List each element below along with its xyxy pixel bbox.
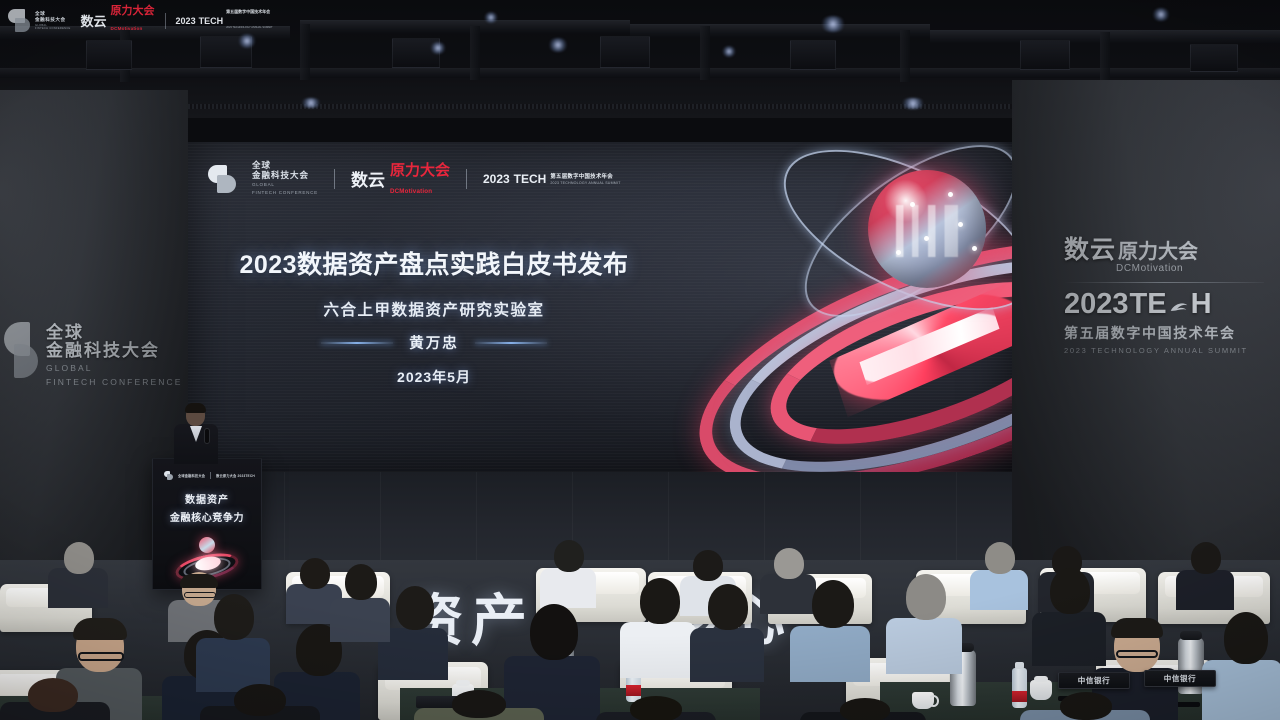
audience-member <box>196 594 270 686</box>
screen-logo-center-cn: 数云 <box>351 166 385 191</box>
audience-member <box>1020 692 1150 720</box>
overlay-right-tech: TECH <box>199 16 224 26</box>
right-wall-tech-right: H <box>1191 288 1212 321</box>
globe-sphere-icon <box>868 170 986 288</box>
overlay-center-cn: 数云 <box>81 11 107 30</box>
screen-logo-right: 2023 TECH 第五届数字中国技术年会 2023 TECHNOLOGY AN… <box>483 172 621 186</box>
overlay-center-en-red: DCMotivation <box>111 26 143 31</box>
microphone-icon <box>204 428 210 444</box>
right-wall-cn-sub: 第五届数字中国技术年会 <box>1064 323 1264 343</box>
screen-logo-right-cn: 第五届数字中国技术年会 <box>550 172 620 180</box>
decorative-rule-right <box>475 342 547 344</box>
screen-logo-center: 数云 原力大会 DCMotivation <box>351 159 450 198</box>
stage-spotlight <box>1152 8 1170 21</box>
left-wall-cn-line2: 金融科技大会 <box>46 342 183 360</box>
audience-member <box>970 542 1028 602</box>
right-wall-brand-cn2: 原力大会 <box>1118 235 1198 264</box>
audience-member <box>1202 612 1280 716</box>
right-wall-dcmotivation-logo: 数云 原力大会 DCMotivation 2023 TE H 第五届数字中国技术… <box>1064 230 1264 355</box>
screen-logo-left-cn2: 金融科技大会 <box>252 171 318 181</box>
slide-title: 2023数据资产盘点实践白皮书发布 <box>224 245 644 281</box>
right-wall-tech-lockup: 2023 TE H <box>1064 288 1264 321</box>
overlay-right-en: 2023 TECHNOLOGY ANNUAL SUMMIT <box>226 26 273 29</box>
screen-logo-bar: 全球 金融科技大会 GLOBAL FINTECH CONFERENCE 数云 原… <box>208 159 621 198</box>
stage-spotlight <box>238 34 256 48</box>
swirl-icon <box>1168 294 1190 316</box>
screen-logo-left-en2: FINTECH CONFERENCE <box>252 190 318 196</box>
right-wall-year: 2023 <box>1064 288 1129 321</box>
right-wall-brand-en: DCMotivation <box>1116 263 1264 274</box>
divider <box>1064 282 1264 283</box>
audience-member <box>200 684 320 720</box>
podium-logo-cn2: 数云原力大会 2023TECH <box>216 473 255 478</box>
audience-member <box>690 584 764 676</box>
audience-member <box>800 698 926 720</box>
right-wall-en-sub: 2023 TECHNOLOGY ANNUAL SUMMIT <box>1064 346 1264 355</box>
audience-member <box>1176 542 1234 602</box>
podium-logo-bar: 全球金融科技大会 数云原力大会 2023TECH <box>164 471 255 480</box>
left-wall-en-line1: GLOBAL <box>46 363 183 374</box>
slide-artwork-spiral <box>658 162 1012 462</box>
stage-spotlight <box>820 16 846 32</box>
audience-member <box>596 696 716 720</box>
table-nameplate[interactable]: 中信银行 <box>1144 670 1216 687</box>
stage-spotlight <box>722 46 736 57</box>
overlay-right-cn: 第五届数字中国技术年会 <box>226 9 273 15</box>
screen-logo-right-year: 2023 <box>483 172 510 186</box>
left-wall-fintech-logo: 全球 金融科技大会 GLOBAL FINTECH CONFERENCE <box>4 322 183 388</box>
screen-logo-right-en: 2023 TECHNOLOGY ANNUAL SUMMIT <box>550 181 620 185</box>
conference-stage-scene: 全球 金融科技大会 GLOBAL FINTECH CONFERENCE 数云 原… <box>0 0 1280 720</box>
overlay-center-cn-red: 原力大会 <box>111 6 155 17</box>
stage-spotlight <box>548 38 568 52</box>
stage-spotlight <box>484 12 498 23</box>
keynote-speaker <box>174 404 218 462</box>
podium-logo-cn: 全球金融科技大会 <box>178 473 205 478</box>
led-presentation-screen[interactable]: 全球 金融科技大会 GLOBAL FINTECH CONFERENCE 数云 原… <box>188 142 1012 472</box>
audience-member <box>330 564 390 638</box>
audience-member <box>540 540 596 600</box>
fintech-conference-mark-icon <box>208 165 236 193</box>
fintech-conference-mark-icon <box>8 9 30 33</box>
stage-spotlight <box>430 42 446 54</box>
slide-organization: 六合上甲数据资产研究实验室 <box>224 298 644 320</box>
slide-title-block: 2023数据资产盘点实践白皮书发布 六合上甲数据资产研究实验室 黄万忠 2023… <box>224 245 644 387</box>
right-wall-brand-cn: 数云 <box>1064 230 1116 266</box>
audience-member <box>790 580 870 676</box>
audience-area: 中国进出口银行 <box>0 520 1280 720</box>
screen-logo-right-tech: TECH <box>514 172 547 186</box>
audience-member <box>414 690 544 720</box>
stage-spotlight <box>900 98 926 109</box>
overlay-right-year: 2023 <box>176 16 196 26</box>
screen-logo-center-cn-red: 原力大会 <box>390 162 450 179</box>
decorative-rule-left <box>321 342 393 344</box>
fintech-conference-mark-icon <box>164 471 173 480</box>
audience-member <box>0 678 110 720</box>
broadcast-logo-overlay: 全球 金融科技大会 GLOBAL FINTECH CONFERENCE 数云 原… <box>8 6 273 35</box>
slide-date: 2023年5月 <box>224 367 644 387</box>
audience-member <box>620 578 696 672</box>
left-wall-cn-line1: 全球 <box>46 324 183 342</box>
right-wall-tech-left: TE <box>1130 288 1167 321</box>
overlay-left-en2: FINTECH CONFERENCE <box>35 27 71 30</box>
divider <box>165 13 166 29</box>
fintech-conference-mark-icon <box>4 322 38 382</box>
podium-line-1: 数据资产 <box>153 491 261 506</box>
slide-presenter-name: 黄万忠 <box>409 332 459 353</box>
overlay-left-cn2: 金融科技大会 <box>35 17 71 23</box>
screen-logo-left-en1: GLOBAL <box>252 182 318 188</box>
divider <box>334 169 335 189</box>
table-nameplate[interactable]: 中信银行 <box>1058 672 1130 689</box>
audience-member <box>886 574 962 668</box>
screen-logo-center-en-red: DCMotivation <box>390 188 432 195</box>
stage-spotlight <box>300 98 322 108</box>
audience-member <box>48 542 108 602</box>
left-wall-en-line2: FINTECH CONFERENCE <box>46 377 183 388</box>
divider <box>466 169 467 189</box>
